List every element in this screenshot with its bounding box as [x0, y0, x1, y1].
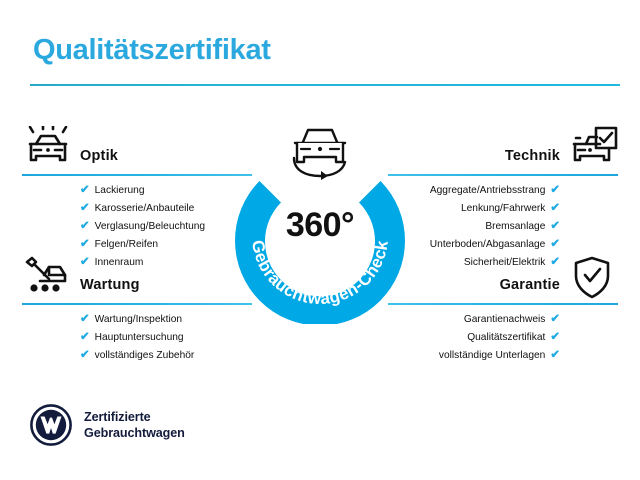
list-item: ✔ Lackierung: [22, 182, 252, 200]
list-item-label: Lackierung: [95, 182, 145, 200]
section-garantie-list: Garantienachweis ✔ Qualitätszertifikat ✔…: [388, 311, 618, 365]
list-item: ✔ Verglasung/Beleuchtung: [22, 218, 252, 236]
list-item-label: Qualitätszertifikat: [467, 329, 545, 347]
section-optik-divider: [22, 174, 252, 176]
list-item: Unterboden/Abgasanlage ✔: [388, 236, 618, 254]
section-technik-divider: [388, 174, 618, 176]
list-item: Garantienachweis ✔: [388, 311, 618, 329]
vw-footer-line1: Zertifizierte: [84, 409, 185, 425]
section-garantie: Garantie Garantienachweis ✔ Qualitätszer…: [388, 255, 618, 303]
section-garantie-title: Garantie: [500, 277, 560, 293]
check-icon: ✔: [550, 185, 560, 197]
certificate-page: Qualitätszertifikat: [0, 0, 640, 480]
check-icon: ✔: [80, 239, 90, 251]
vw-footer-line2: Gebrauchtwagen: [84, 425, 185, 441]
list-item: ✔ Hauptuntersuchung: [22, 329, 252, 347]
car-checkbox-icon: [566, 126, 618, 172]
list-item: ✔ Karosserie/Anbauteile: [22, 200, 252, 218]
page-title: Qualitätszertifikat: [33, 34, 271, 67]
list-item: Lenkung/Fahrwerk ✔: [388, 200, 618, 218]
list-item-label: vollständige Unterlagen: [439, 347, 545, 365]
list-item: Aggregate/Antriebsstrang ✔: [388, 182, 618, 200]
car-shine-icon: [22, 126, 74, 172]
section-optik: Optik ✔ Lackierung ✔ Karosserie/Anbautei…: [22, 126, 252, 174]
list-item-label: Garantienachweis: [464, 311, 546, 329]
list-item-label: Felgen/Reifen: [95, 236, 158, 254]
car-wrench-lift-icon: [22, 255, 74, 301]
check-icon: ✔: [80, 332, 90, 344]
section-garantie-header: Garantie: [388, 255, 618, 303]
section-wartung-title: Wartung: [80, 277, 140, 293]
section-technik-title: Technik: [505, 148, 560, 164]
list-item: ✔ Felgen/Reifen: [22, 236, 252, 254]
list-item: ✔ Wartung/Inspektion: [22, 311, 252, 329]
vw-logo-icon: [30, 404, 72, 446]
section-wartung-divider: [22, 303, 252, 305]
check-icon: ✔: [550, 203, 560, 215]
section-wartung-list: ✔ Wartung/Inspektion ✔ Hauptuntersuchung…: [22, 311, 252, 365]
section-technik-header: Technik: [388, 126, 618, 174]
list-item: vollständige Unterlagen ✔: [388, 347, 618, 365]
check-icon: ✔: [80, 314, 90, 326]
check-icon: ✔: [550, 221, 560, 233]
list-item: Qualitätszertifikat ✔: [388, 329, 618, 347]
vw-footer-text: Zertifizierte Gebrauchtwagen: [84, 409, 185, 441]
check-icon: ✔: [80, 185, 90, 197]
vw-footer: Zertifizierte Gebrauchtwagen: [30, 404, 185, 446]
section-technik: Technik Aggregate/Antriebsstrang ✔ Lenku…: [388, 126, 618, 174]
check-icon: ✔: [550, 239, 560, 251]
car-rotation-icon: [281, 120, 359, 180]
list-item-label: Karosserie/Anbauteile: [95, 200, 195, 218]
list-item: ✔ vollständiges Zubehör: [22, 347, 252, 365]
check-icon: ✔: [550, 314, 560, 326]
badge-center-value: 360°: [232, 206, 408, 245]
list-item-label: Bremsanlage: [485, 218, 545, 236]
check-icon: ✔: [80, 221, 90, 233]
list-item: Bremsanlage ✔: [388, 218, 618, 236]
section-optik-title: Optik: [80, 148, 118, 164]
check-icon: ✔: [80, 203, 90, 215]
list-item-label: vollständiges Zubehör: [95, 347, 195, 365]
list-item-label: Lenkung/Fahrwerk: [461, 200, 545, 218]
list-item-label: Unterboden/Abgasanlage: [430, 236, 546, 254]
check-icon: ✔: [550, 350, 560, 362]
list-item-label: Aggregate/Antriebsstrang: [430, 182, 546, 200]
section-optik-header: Optik: [22, 126, 252, 174]
check-icon: ✔: [550, 332, 560, 344]
list-item-label: Wartung/Inspektion: [95, 311, 182, 329]
title-divider: [30, 84, 620, 86]
shield-check-icon: [566, 255, 618, 301]
list-item-label: Verglasung/Beleuchtung: [95, 218, 205, 236]
list-item-label: Hauptuntersuchung: [95, 329, 184, 347]
check-icon: ✔: [80, 350, 90, 362]
section-wartung: Wartung ✔ Wartung/Inspektion ✔ Hauptunte…: [22, 255, 252, 303]
section-garantie-divider: [388, 303, 618, 305]
section-wartung-header: Wartung: [22, 255, 252, 303]
